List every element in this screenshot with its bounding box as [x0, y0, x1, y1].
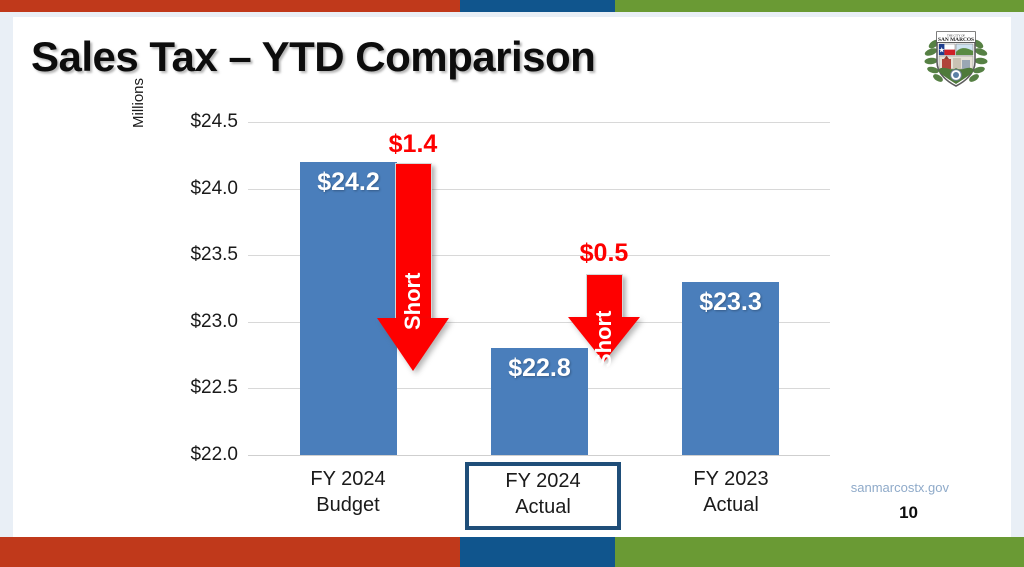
x-axis-label-fy-2024-actual-line1: FY 2024	[483, 469, 603, 495]
bottom-color-band	[0, 537, 1024, 567]
gridline-22-0-baseline: $22.0	[248, 455, 830, 456]
y-axis-label-23-5: $23.5	[190, 244, 238, 266]
band-segment-red	[0, 0, 460, 12]
bottom-band-segment-red	[0, 537, 460, 567]
annotation-word-2: Short	[591, 278, 617, 368]
x-axis-label-fy-2023-actual-line1: FY 2023	[661, 467, 801, 493]
band-segment-blue	[460, 0, 615, 12]
bottom-band-segment-blue	[460, 537, 615, 567]
annotation-word-1: Short	[400, 240, 426, 330]
bar-fy-2023-actual[interactable]: $23.3	[682, 282, 779, 455]
slide-content-card: Sales Tax – YTD Comparison	[13, 17, 1011, 537]
x-axis-label-fy-2024-budget[interactable]: FY 2024 Budget	[278, 467, 418, 518]
bar-fy-2024-actual[interactable]: $22.8	[491, 348, 588, 455]
bar-value-label-fy-2023-actual: $23.3	[682, 288, 779, 317]
x-axis-label-fy-2024-budget-line1: FY 2024	[278, 467, 418, 493]
page-number: 10	[899, 503, 918, 523]
x-axis-label-fy-2023-actual[interactable]: FY 2023 Actual	[661, 467, 801, 518]
y-axis-label-23-0: $23.0	[190, 311, 238, 333]
y-axis-label-24-0: $24.0	[190, 178, 238, 200]
x-axis-label-fy-2023-actual-line2: Actual	[661, 493, 801, 519]
y-axis-label-22-0: $22.0	[190, 444, 238, 466]
bar-value-label-fy-2024-budget: $24.2	[300, 168, 397, 197]
city-of-san-marcos-seal-icon: THE CITY OF SAN MARCOS	[921, 22, 991, 94]
bar-fy-2024-budget[interactable]: $24.2	[300, 162, 397, 455]
sales-tax-bar-chart: Millions $24.5 $24.0 $23.5 $23.0 $22.5 $…	[248, 122, 830, 455]
y-axis-label-22-5: $22.5	[190, 377, 238, 399]
bottom-band-segment-green	[615, 537, 1024, 567]
band-segment-green	[615, 0, 1024, 12]
top-color-band	[0, 0, 1024, 12]
x-axis-label-fy-2024-actual-highlighted[interactable]: FY 2024 Actual	[465, 462, 621, 530]
annotation-value-0-5: $0.5	[559, 239, 649, 268]
y-axis-title: Millions	[130, 78, 147, 128]
x-axis-label-fy-2024-actual-line2: Actual	[483, 495, 603, 521]
page-title: Sales Tax – YTD Comparison	[31, 33, 595, 81]
x-axis-label-fy-2024-budget-line2: Budget	[278, 493, 418, 519]
slide-canvas: Sales Tax – YTD Comparison	[0, 0, 1024, 567]
y-axis-label-24-5: $24.5	[190, 111, 238, 133]
annotation-value-1-4: $1.4	[368, 130, 458, 159]
website-url[interactable]: sanmarcostx.gov	[851, 480, 949, 495]
gridline-24-5: $24.5	[248, 122, 830, 123]
